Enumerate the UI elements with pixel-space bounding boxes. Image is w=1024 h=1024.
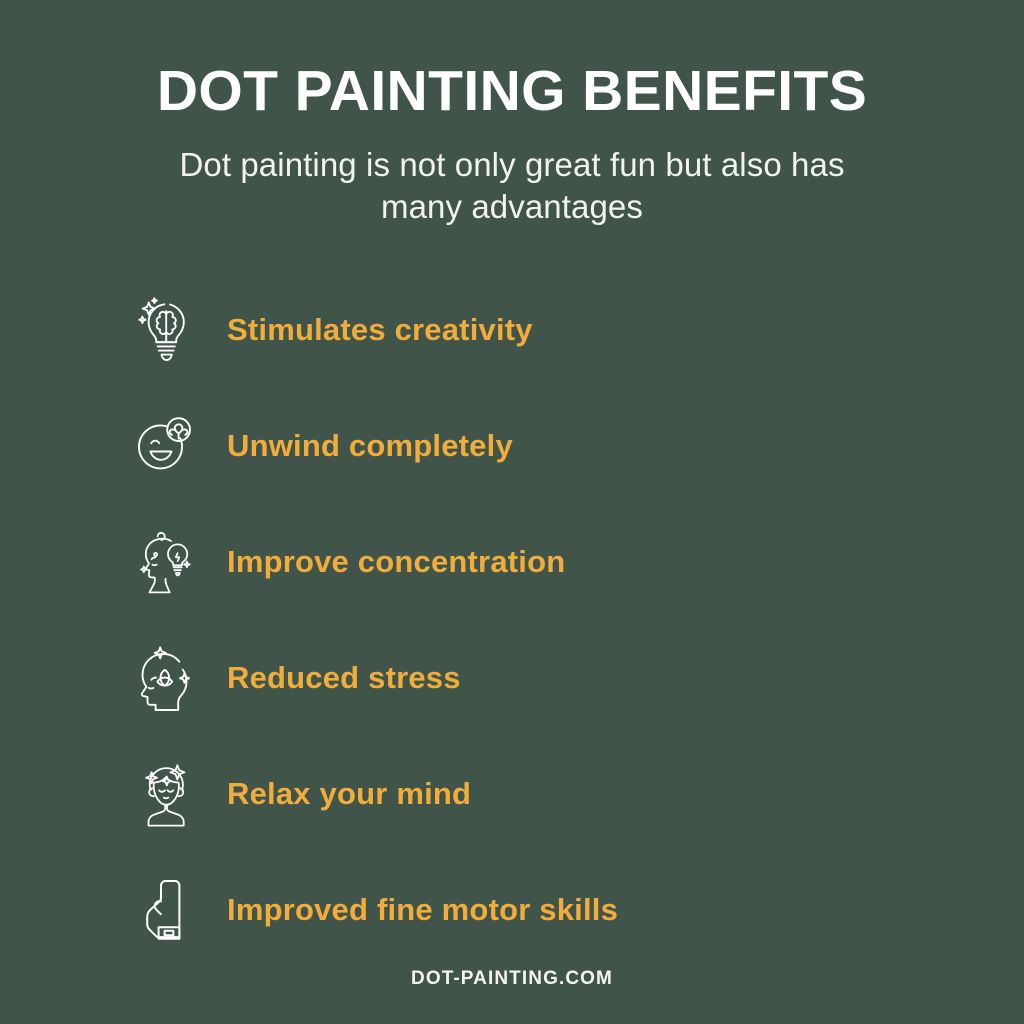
- poster-footer: DOT-PAINTING.COM: [0, 968, 1024, 990]
- list-item: Reduced stress: [133, 620, 461, 736]
- list-item: Relax your mind: [133, 736, 471, 852]
- list-item: Unwind completely: [133, 388, 513, 504]
- brain-lightbulb-icon: [133, 294, 199, 366]
- head-lotus-sparkle-icon: [133, 642, 199, 714]
- website-url[interactable]: DOT-PAINTING.COM: [411, 968, 613, 989]
- benefit-label: Reduced stress: [227, 660, 461, 696]
- calm-face-stars-icon: [133, 758, 199, 830]
- list-item: Improved fine motor skills: [133, 852, 618, 968]
- benefit-label: Unwind completely: [227, 428, 513, 464]
- list-item: Improve concentration: [133, 504, 565, 620]
- benefit-label: Improve concentration: [227, 544, 565, 580]
- head-profile-lightbulb-icon: [133, 526, 199, 598]
- page-subtitle: Dot painting is not only great fun but a…: [142, 144, 882, 228]
- poster-canvas: DOT PAINTING BENEFITS Dot painting is no…: [0, 0, 1024, 1024]
- list-item: Stimulates creativity: [133, 272, 533, 388]
- smiling-face-flower-icon: [133, 410, 199, 482]
- poster-header: DOT PAINTING BENEFITS Dot painting is no…: [0, 0, 1024, 228]
- benefits-list: Stimulates creativity Unwind completely: [0, 272, 1024, 968]
- benefit-label: Improved fine motor skills: [227, 892, 618, 928]
- hand-holding-tool-icon: [133, 874, 199, 946]
- benefit-label: Stimulates creativity: [227, 312, 533, 348]
- page-title: DOT PAINTING BENEFITS: [0, 62, 1024, 122]
- benefit-label: Relax your mind: [227, 776, 471, 812]
